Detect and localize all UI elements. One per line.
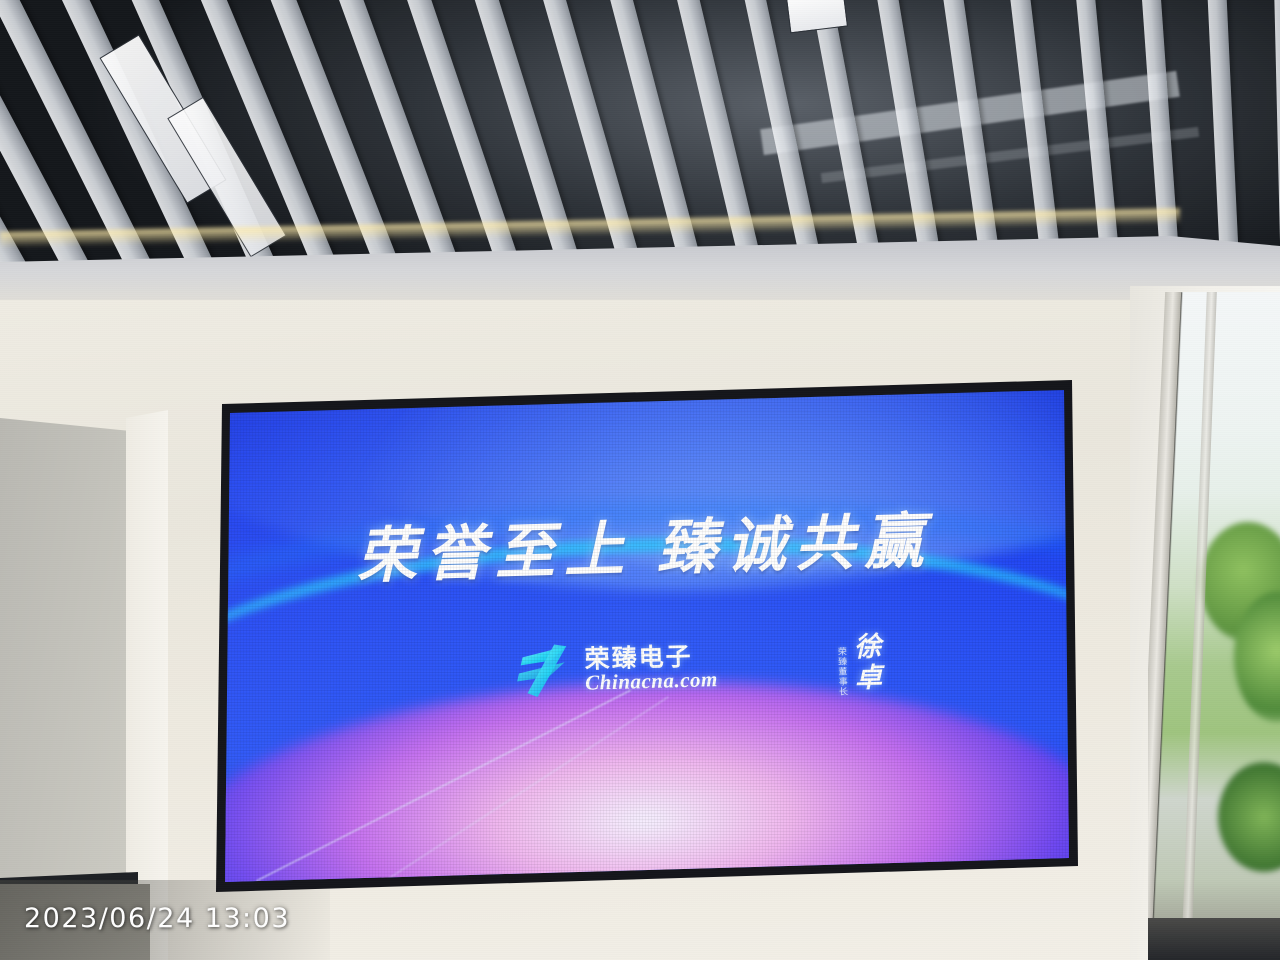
screen-surface[interactable]: 荣誉至上 臻诚共赢	[216, 380, 1078, 892]
led-video-wall[interactable]: 荣誉至上 臻诚共赢	[216, 380, 1078, 892]
timestamp-overlay: 2023/06/24 13:03	[24, 903, 290, 934]
logo-text-block: 荣臻电子 Chinacna.com	[584, 644, 718, 694]
signature-name: 徐卓	[849, 632, 881, 695]
signature-title: 荣臻董事长	[836, 647, 847, 697]
window-sill	[1148, 918, 1280, 960]
screen-content-layer: 荣誉至上 臻诚共赢	[216, 380, 1078, 892]
company-logo-lockup: 荣臻电子 Chinacna.com	[514, 636, 718, 703]
chairman-signature-block: 荣臻董事长 徐卓	[836, 632, 881, 697]
left-doorway-alcove	[0, 418, 140, 918]
slogan-text: 荣誉至上 臻诚共赢	[216, 488, 1077, 598]
chinacna-z-logo-icon	[514, 640, 576, 704]
company-domain: Chinacna.com	[585, 669, 718, 694]
photograph-canvas: 荣誉至上 臻诚共赢	[0, 0, 1280, 960]
right-window-with-outdoor-view	[1148, 292, 1280, 960]
